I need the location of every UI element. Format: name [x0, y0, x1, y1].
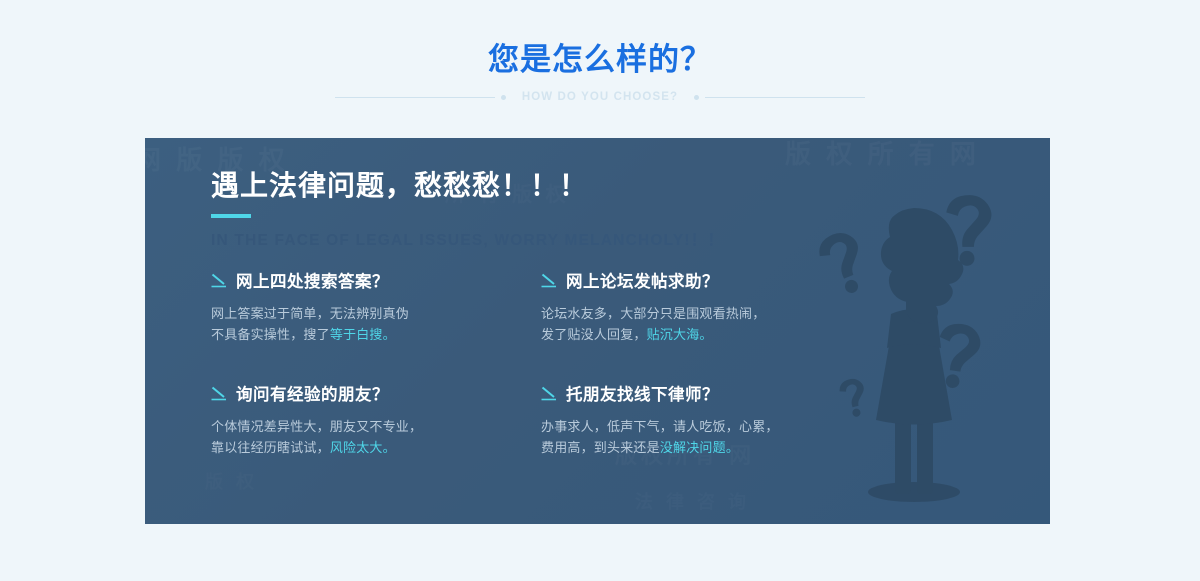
- line2-prefix: 费用高，到头来还是: [541, 440, 660, 455]
- list-item-title: 网上四处搜索答案？: [236, 268, 389, 292]
- list-item-line2: 费用高，到头来还是没解决问题。: [541, 437, 871, 458]
- slash-arrow-icon: [541, 273, 558, 288]
- list-item-title: 询问有经验的朋友？: [236, 381, 389, 405]
- line2-suffix: 。: [699, 327, 712, 342]
- title-underline-rule: [211, 214, 251, 218]
- panel-headline-block: 遇上法律问题，愁愁愁！！！ IN THE FACE OF LEGAL ISSUE…: [211, 166, 724, 250]
- line2-highlight: 贴沉大海: [647, 327, 700, 342]
- pain-point-list: 网上四处搜索答案？ 网上答案过于简单，无法辨别真伪 不具备实操性，搜了等于白搜。…: [211, 268, 911, 458]
- line2-prefix: 不具备实操性，搜了: [211, 327, 330, 342]
- list-item-line2: 不具备实操性，搜了等于白搜。: [211, 324, 541, 345]
- page-title: 您是怎么样的？: [0, 38, 1200, 82]
- list-item-body: 办事求人，低声下气，请人吃饭，心累， 费用高，到头来还是没解决问题。: [541, 416, 871, 458]
- slash-arrow-icon: [541, 386, 558, 401]
- content-panel: 网 版 版 权 版 权 所 有 网 所 有 版 权 版权所有 网 法 律 咨 询…: [145, 138, 1050, 524]
- watermark-text: 版 权: [205, 468, 258, 494]
- line2-highlight: 风险太大: [330, 440, 383, 455]
- list-item-body: 个体情况差异性大，朋友又不专业， 靠以往经历瞎试试，风险太大。: [211, 416, 541, 458]
- list-item-line2: 靠以往经历瞎试试，风险太大。: [211, 437, 541, 458]
- list-item-line1: 论坛水友多，大部分只是围观看热闹，: [541, 303, 871, 324]
- list-item-body: 论坛水友多，大部分只是围观看热闹， 发了贴没人回复，贴沉大海。: [541, 303, 871, 345]
- list-item[interactable]: 询问有经验的朋友？ 个体情况差异性大，朋友又不专业， 靠以往经历瞎试试，风险太大…: [211, 381, 541, 458]
- list-item[interactable]: 网上论坛发帖求助？ 论坛水友多，大部分只是围观看热闹， 发了贴没人回复，贴沉大海…: [541, 268, 871, 345]
- slash-arrow-icon: [211, 386, 228, 401]
- list-item-title-row: 网上论坛发帖求助？: [541, 268, 871, 292]
- line2-highlight: 等于白搜: [330, 327, 383, 342]
- list-item-title-row: 托朋友找线下律师？: [541, 381, 871, 405]
- section-header: 您是怎么样的？ HOW DO YOU CHOOSE?: [0, 38, 1200, 103]
- list-item-title: 托朋友找线下律师？: [566, 381, 719, 405]
- list-item-title-row: 网上四处搜索答案？: [211, 268, 541, 292]
- line2-suffix: 。: [383, 327, 396, 342]
- list-item-body: 网上答案过于简单，无法辨别真伪 不具备实操性，搜了等于白搜。: [211, 303, 541, 345]
- page-subtitle: HOW DO YOU CHOOSE?: [506, 91, 694, 103]
- list-item-line1: 个体情况差异性大，朋友又不专业，: [211, 416, 541, 437]
- line2-prefix: 靠以往经历瞎试试，: [211, 440, 330, 455]
- line2-highlight: 没解决问题: [660, 440, 726, 455]
- decor-line-left: [335, 97, 495, 98]
- panel-title: 遇上法律问题，愁愁愁！！！: [211, 166, 724, 206]
- list-item[interactable]: 网上四处搜索答案？ 网上答案过于简单，无法辨别真伪 不具备实操性，搜了等于白搜。: [211, 268, 541, 345]
- line2-suffix: 。: [726, 440, 739, 455]
- watermark-text: 法 律 咨 询: [635, 488, 750, 514]
- list-item-title-row: 询问有经验的朋友？: [211, 381, 541, 405]
- list-item[interactable]: 托朋友找线下律师？ 办事求人，低声下气，请人吃饭，心累， 费用高，到头来还是没解…: [541, 381, 871, 458]
- list-item-line1: 办事求人，低声下气，请人吃饭，心累，: [541, 416, 871, 437]
- decor-dot-right: [694, 95, 699, 100]
- list-item-line2: 发了贴没人回复，贴沉大海。: [541, 324, 871, 345]
- line2-prefix: 发了贴没人回复，: [541, 327, 647, 342]
- panel-subtitle: IN THE FACE OF LEGAL ISSUES, WORRY MELAN…: [211, 228, 724, 250]
- list-item-line1: 网上答案过于简单，无法辨别真伪: [211, 303, 541, 324]
- list-item-title: 网上论坛发帖求助？: [566, 268, 719, 292]
- slash-arrow-icon: [211, 273, 228, 288]
- watermark-text: 版 权 所 有 网: [785, 138, 980, 171]
- decor-line-right: [705, 97, 865, 98]
- line2-suffix: 。: [383, 440, 396, 455]
- subtitle-row: HOW DO YOU CHOOSE?: [0, 91, 1200, 103]
